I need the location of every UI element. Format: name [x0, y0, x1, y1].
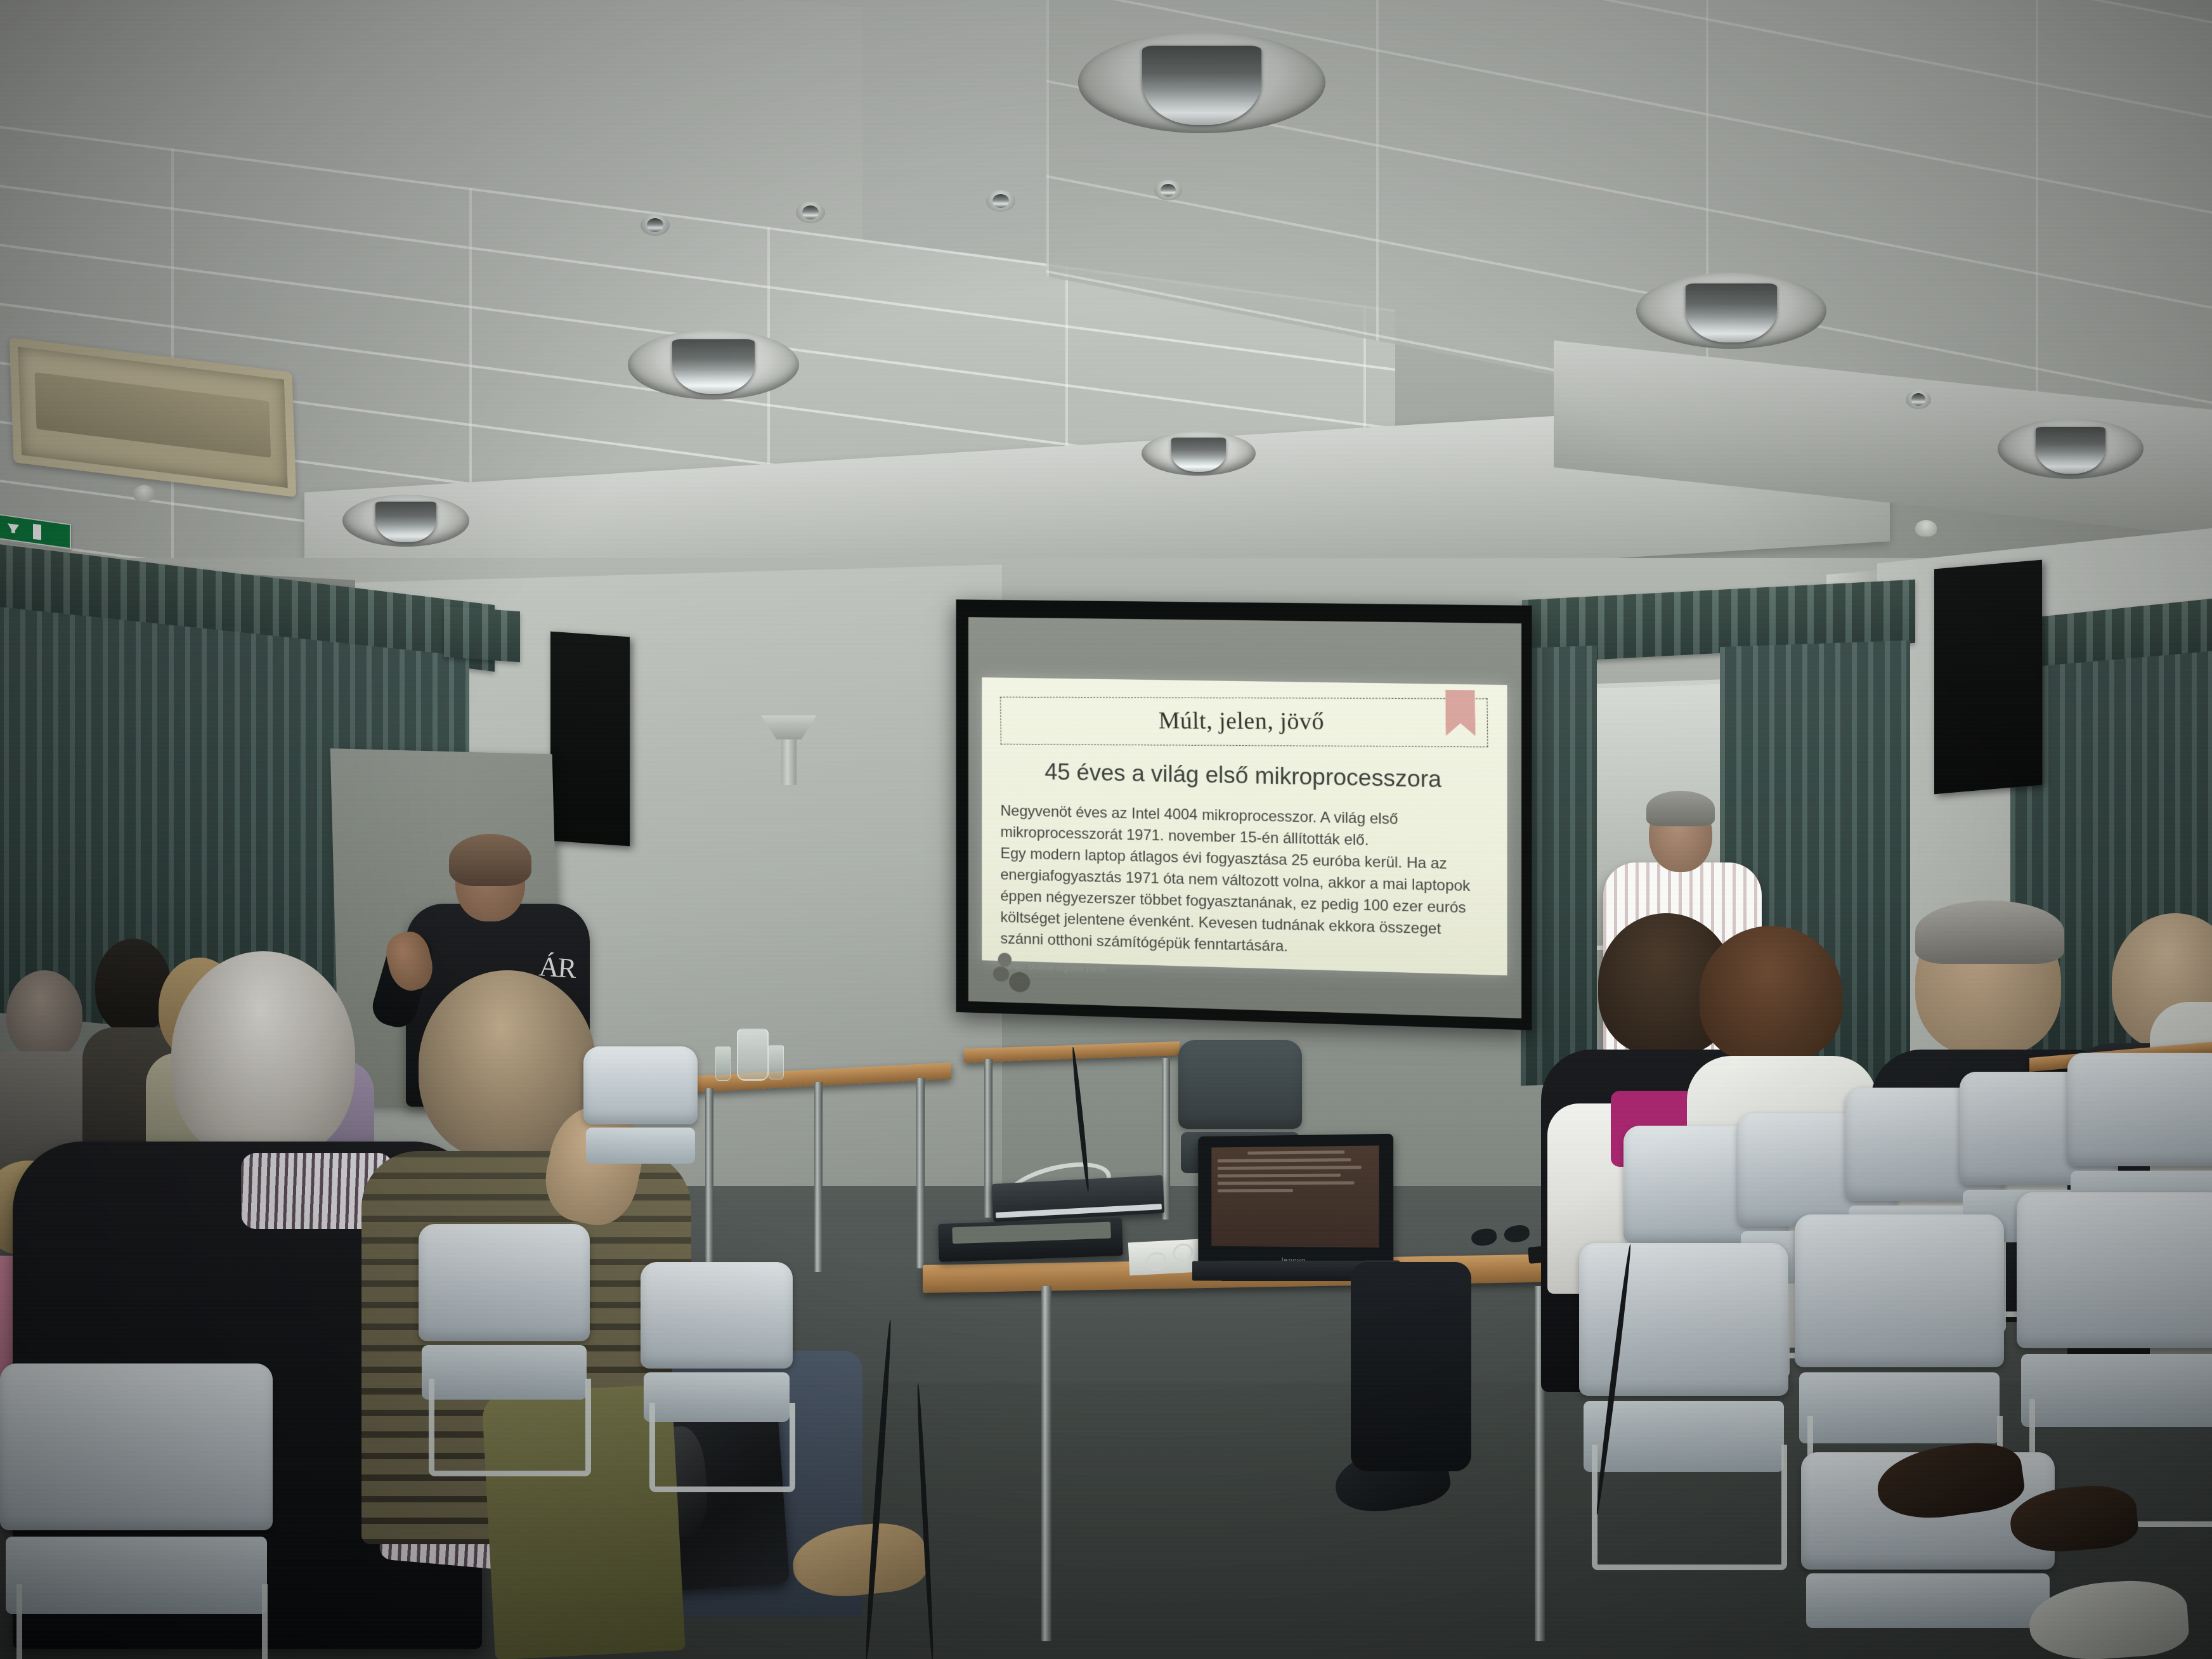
presenter-hair: [449, 834, 531, 886]
ceiling: [0, 0, 2212, 621]
downlight-icon: [1078, 32, 1325, 133]
slide-source-line: Forrás: Múltkor digitális portál: [1001, 961, 1488, 985]
laptop[interactable]: lenovo: [1198, 1134, 1393, 1270]
table-leg: [814, 1082, 823, 1272]
downlight-icon: [1636, 273, 1826, 349]
smoke-detector-icon: [133, 485, 155, 502]
downlight-icon: [1998, 419, 2144, 479]
slide-body-text: Negyvenöt éves az Intel 4004 mikroproces…: [1001, 800, 1488, 963]
water-carafe: [737, 1029, 769, 1081]
paw-print-icon: [998, 953, 1012, 966]
ceiling-spot-icon: [986, 190, 1015, 212]
down-arrow-icon: [8, 523, 19, 534]
downlight-icon: [1142, 431, 1256, 476]
curtain-pelmet-left-2: [444, 606, 520, 662]
chair[interactable]: [641, 1262, 793, 1452]
chair[interactable]: [2017, 1192, 2212, 1471]
drinking-glass: [769, 1045, 784, 1079]
slide-heading: 45 éves a világ első mikroprocesszora: [1001, 758, 1488, 794]
wall-speaker-right: [1934, 560, 2042, 795]
tablet-device[interactable]: [938, 1218, 1123, 1262]
table-leg: [916, 1078, 925, 1268]
standing-attendee-hair: [1646, 791, 1715, 826]
curtain-right-a: [1521, 646, 1597, 1086]
projection-screen: Múlt, jelen, jövő 45 éves a világ első m…: [956, 599, 1532, 1030]
chair[interactable]: [419, 1224, 590, 1433]
table-leg: [705, 1088, 713, 1272]
exit-door-icon: [33, 524, 41, 540]
wall-speaker-left: [550, 632, 630, 847]
table-leg: [1041, 1286, 1051, 1641]
ceiling-spot-icon: [1154, 180, 1182, 200]
chair[interactable]: [0, 1363, 273, 1659]
laptop-screen: [1211, 1145, 1379, 1247]
chair[interactable]: [583, 1046, 698, 1186]
downlight-icon: [342, 495, 469, 547]
paw-print-icon: [1009, 972, 1030, 992]
downlight-icon: [628, 330, 799, 400]
slide-title-banner: Múlt, jelen, jövő: [1000, 697, 1488, 747]
ceiling-spot-icon: [796, 202, 825, 223]
slide-banner-title: Múlt, jelen, jövő: [1007, 706, 1481, 736]
table-leg: [984, 1059, 992, 1218]
presentation-room-photo: Múlt, jelen, jövő 45 éves a világ első m…: [0, 0, 2212, 1659]
smoke-detector-icon: [1915, 520, 1937, 537]
seated-legs-center: [1351, 1262, 1471, 1471]
projection-surface: Múlt, jelen, jövő 45 éves a világ első m…: [968, 617, 1521, 1018]
wall-sconce: [761, 715, 817, 779]
paw-print-icon: [993, 966, 1009, 981]
slide: Múlt, jelen, jövő 45 éves a világ első m…: [982, 677, 1507, 975]
ceiling-spot-icon: [1906, 390, 1931, 409]
drinking-glass: [715, 1046, 731, 1081]
ceiling-spot-icon: [641, 214, 670, 236]
